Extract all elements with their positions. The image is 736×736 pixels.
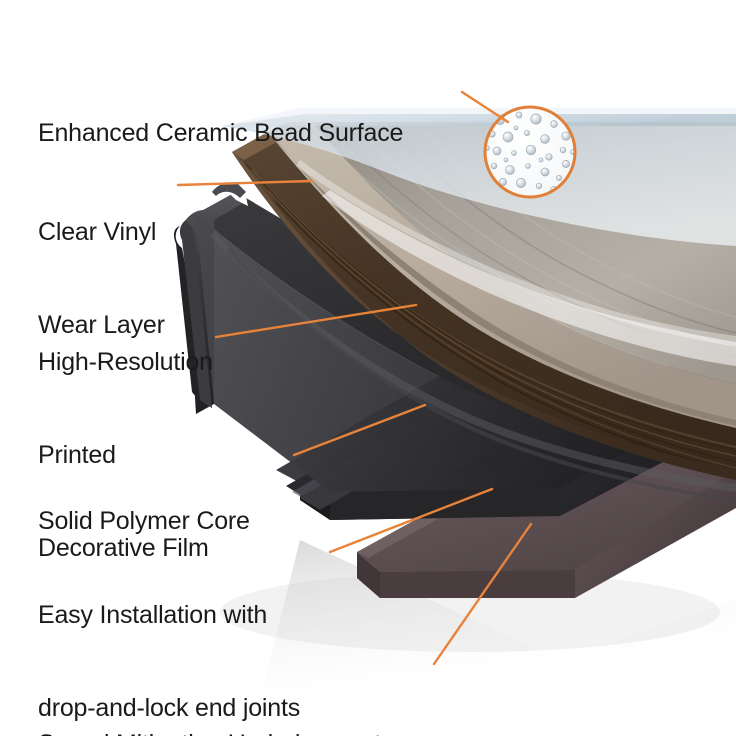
callout-line: High-Resolution xyxy=(38,347,213,378)
callout-line: Easy Installation with xyxy=(38,600,300,631)
callout-line: Solid Polymer Core xyxy=(38,506,250,537)
flooring-layers-diagram: Enhanced Ceramic Bead Surface Clear Viny… xyxy=(0,0,736,736)
callout-line: Sound Mitigating Underlayment xyxy=(38,729,381,736)
callout-sound-mitigating-underlayment: Sound Mitigating Underlayment xyxy=(38,667,381,736)
callout-line: Enhanced Ceramic Bead Surface xyxy=(38,118,403,149)
ceramic-bead-magnifier xyxy=(485,107,576,197)
callout-line: Clear Vinyl xyxy=(38,217,165,248)
